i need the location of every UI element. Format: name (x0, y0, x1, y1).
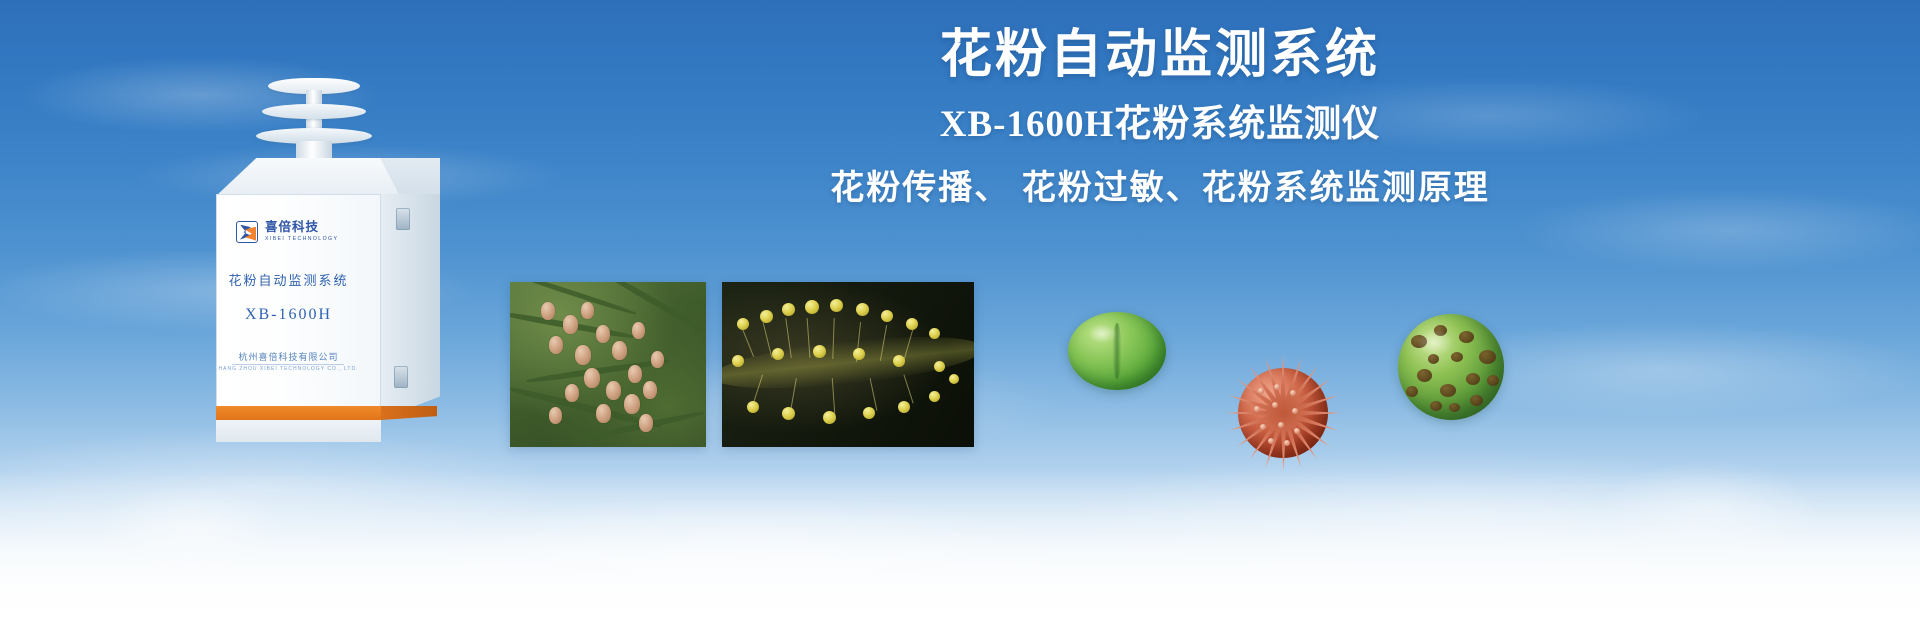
catkin-flower-photo (722, 282, 974, 447)
page-title: 花粉自动监测系统 (560, 28, 1760, 83)
cloud-wisp (900, 420, 1920, 610)
headline-group: 花粉自动监测系统 XB-1600H花粉系统监测仪 花粉传播、 花粉过敏、花粉系统… (560, 28, 1760, 208)
cabinet-latch-lower (394, 366, 408, 388)
cabinet-base (216, 420, 381, 442)
cabinet-side-panel (381, 194, 440, 419)
brand-name-cn: 喜倍科技 (265, 220, 338, 234)
cloud-puff (60, 468, 320, 588)
device-panel-title: 花粉自动监测系统 (196, 270, 381, 289)
air-inlet-cap-middle (262, 104, 366, 119)
cabinet-accent-band (216, 406, 381, 420)
cabinet-accent-band-side (381, 406, 437, 420)
page-subtitle: XB-1600H花粉系统监测仪 (560, 105, 1760, 146)
cloud-wisp (1280, 300, 1920, 440)
cypress-cones-photo (510, 282, 706, 447)
pollen-grain-smooth (1068, 312, 1166, 390)
page-description: 花粉传播、 花粉过敏、花粉系统监测原理 (560, 169, 1760, 208)
device-panel-divider (232, 364, 344, 365)
device-panel-model: XB-1600H (196, 306, 381, 324)
pollen-grain-warty (1398, 314, 1504, 420)
pollen-grain-spiky (1222, 352, 1344, 474)
cabinet-latch-upper (396, 208, 410, 230)
brand-name-en: XIBEI TECHNOLOGY (265, 236, 338, 243)
cloud-puff (1560, 440, 1860, 580)
horizon-haze (0, 470, 1920, 619)
xibei-logo-icon (236, 221, 258, 243)
brand-logo: 喜倍科技 XIBEI TECHNOLOGY (236, 220, 338, 243)
pollen-monitoring-cabinet: 喜倍科技 XIBEI TECHNOLOGY 花粉自动监测系统 XB-1600H … (196, 78, 466, 438)
device-company-en: HANG ZHOU XIBEI TECHNOLOGY CO., LTD. (196, 366, 381, 372)
banner-root: 花粉自动监测系统 XB-1600H花粉系统监测仪 花粉传播、 花粉过敏、花粉系统… (0, 0, 1920, 619)
cloud-wisp (300, 470, 1200, 619)
device-company-cn: 杭州喜倍科技有限公司 (196, 350, 381, 363)
